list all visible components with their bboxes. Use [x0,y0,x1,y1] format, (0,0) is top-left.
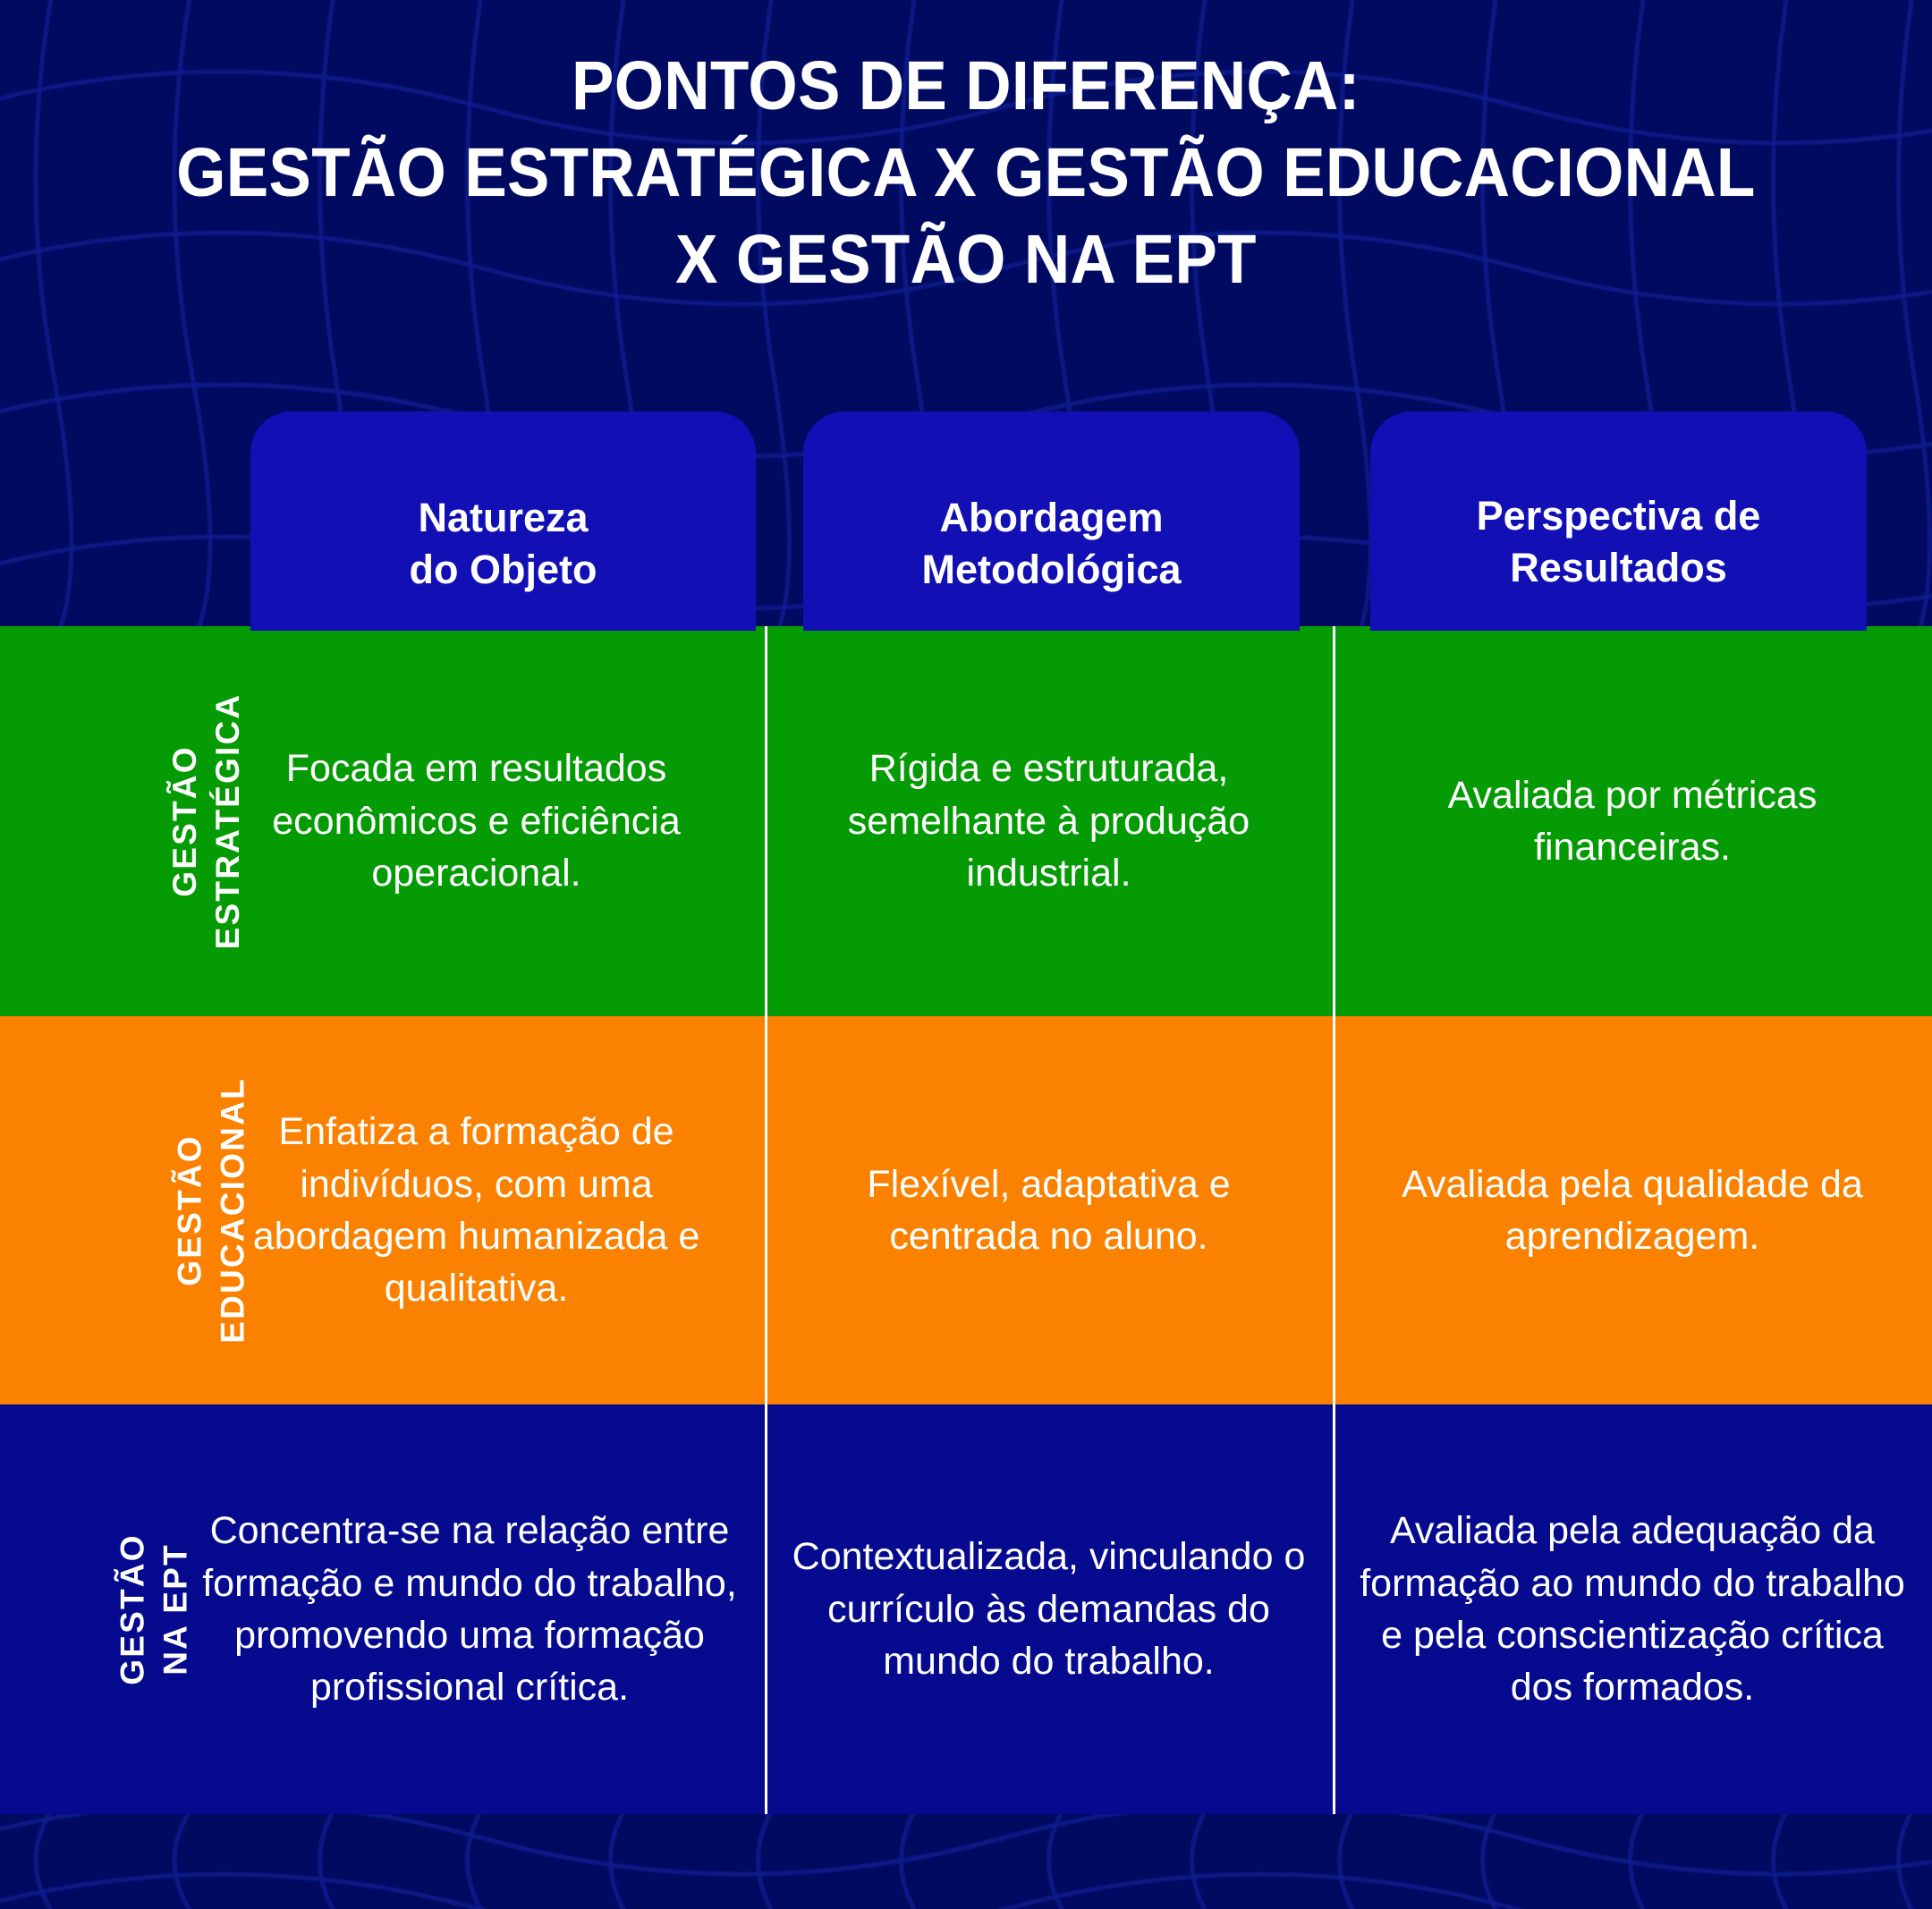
cell-gestao-na-ept-abordagem: Contextualizada, vinculando o currículo … [765,1404,1333,1814]
column-header-abordagem-metodologica: Abordagem Metodológica [803,411,1300,631]
row-label-cell-gestao-na-ept: GESTÃO NA EPT Concentra-se na relação en… [0,1404,765,1814]
table-row-gestao-estrategica: GESTÃO ESTRATÉGICA Focada em resultados … [0,626,1932,1016]
table-row-gestao-educacional: GESTÃO EDUCACIONAL Enfatiza a formação d… [0,1016,1932,1404]
column-header-line1: Natureza [410,492,597,544]
column-header-line1: Perspectiva de [1477,490,1761,542]
title-line-1: PONTOS DE DIFERENÇA: [77,52,1854,121]
title-line-2: GESTÃO ESTRATÉGICA X GESTÃO EDUCACIONAL [77,139,1854,208]
cell-gestao-estrategica-abordagem: Rígida e estruturada, semelhante à produ… [765,626,1333,1016]
column-header-line2: do Objeto [410,544,597,596]
table-row-gestao-na-ept: GESTÃO NA EPT Concentra-se na relação en… [0,1404,1932,1814]
page-title: PONTOS DE DIFERENÇA: GESTÃO ESTRATÉGICA … [0,52,1932,294]
row-label-line1: GESTÃO [112,1533,155,1684]
row-label-cell-gestao-educacional: GESTÃO EDUCACIONAL Enfatiza a formação d… [0,1016,765,1404]
table-header-row: Natureza do Objeto Abordagem Metodológic… [0,411,1932,631]
cell-gestao-estrategica-natureza: Focada em resultados econômicos e eficiê… [192,626,760,1016]
column-header-line2: Resultados [1477,542,1761,594]
cell-gestao-na-ept-natureza: Concentra-se na relação entre formação e… [179,1404,760,1814]
column-header-perspectiva-de-resultados: Perspectiva de Resultados [1370,411,1867,631]
cell-gestao-educacional-perspectiva: Avaliada pela qualidade da aprendizagem. [1333,1016,1932,1404]
cell-gestao-estrategica-perspectiva: Avaliada por métricas financeiras. [1333,626,1932,1016]
cell-gestao-na-ept-perspectiva: Avaliada pela adequação da formação ao m… [1333,1404,1932,1814]
cell-gestao-educacional-abordagem: Flexível, adaptativa e centrada no aluno… [765,1016,1333,1404]
row-label-cell-gestao-estrategica: GESTÃO ESTRATÉGICA Focada em resultados … [0,626,765,1016]
column-header-natureza-do-objeto: Natureza do Objeto [250,411,756,631]
cell-gestao-educacional-natureza: Enfatiza a formação de indivíduos, com u… [192,1016,760,1404]
column-header-line2: Metodológica [922,544,1182,596]
title-line-3: X GESTÃO NA EPT [77,225,1854,294]
column-separator-1 [765,626,767,1814]
column-separator-2 [1333,626,1335,1814]
column-header-line1: Abordagem [922,492,1182,544]
